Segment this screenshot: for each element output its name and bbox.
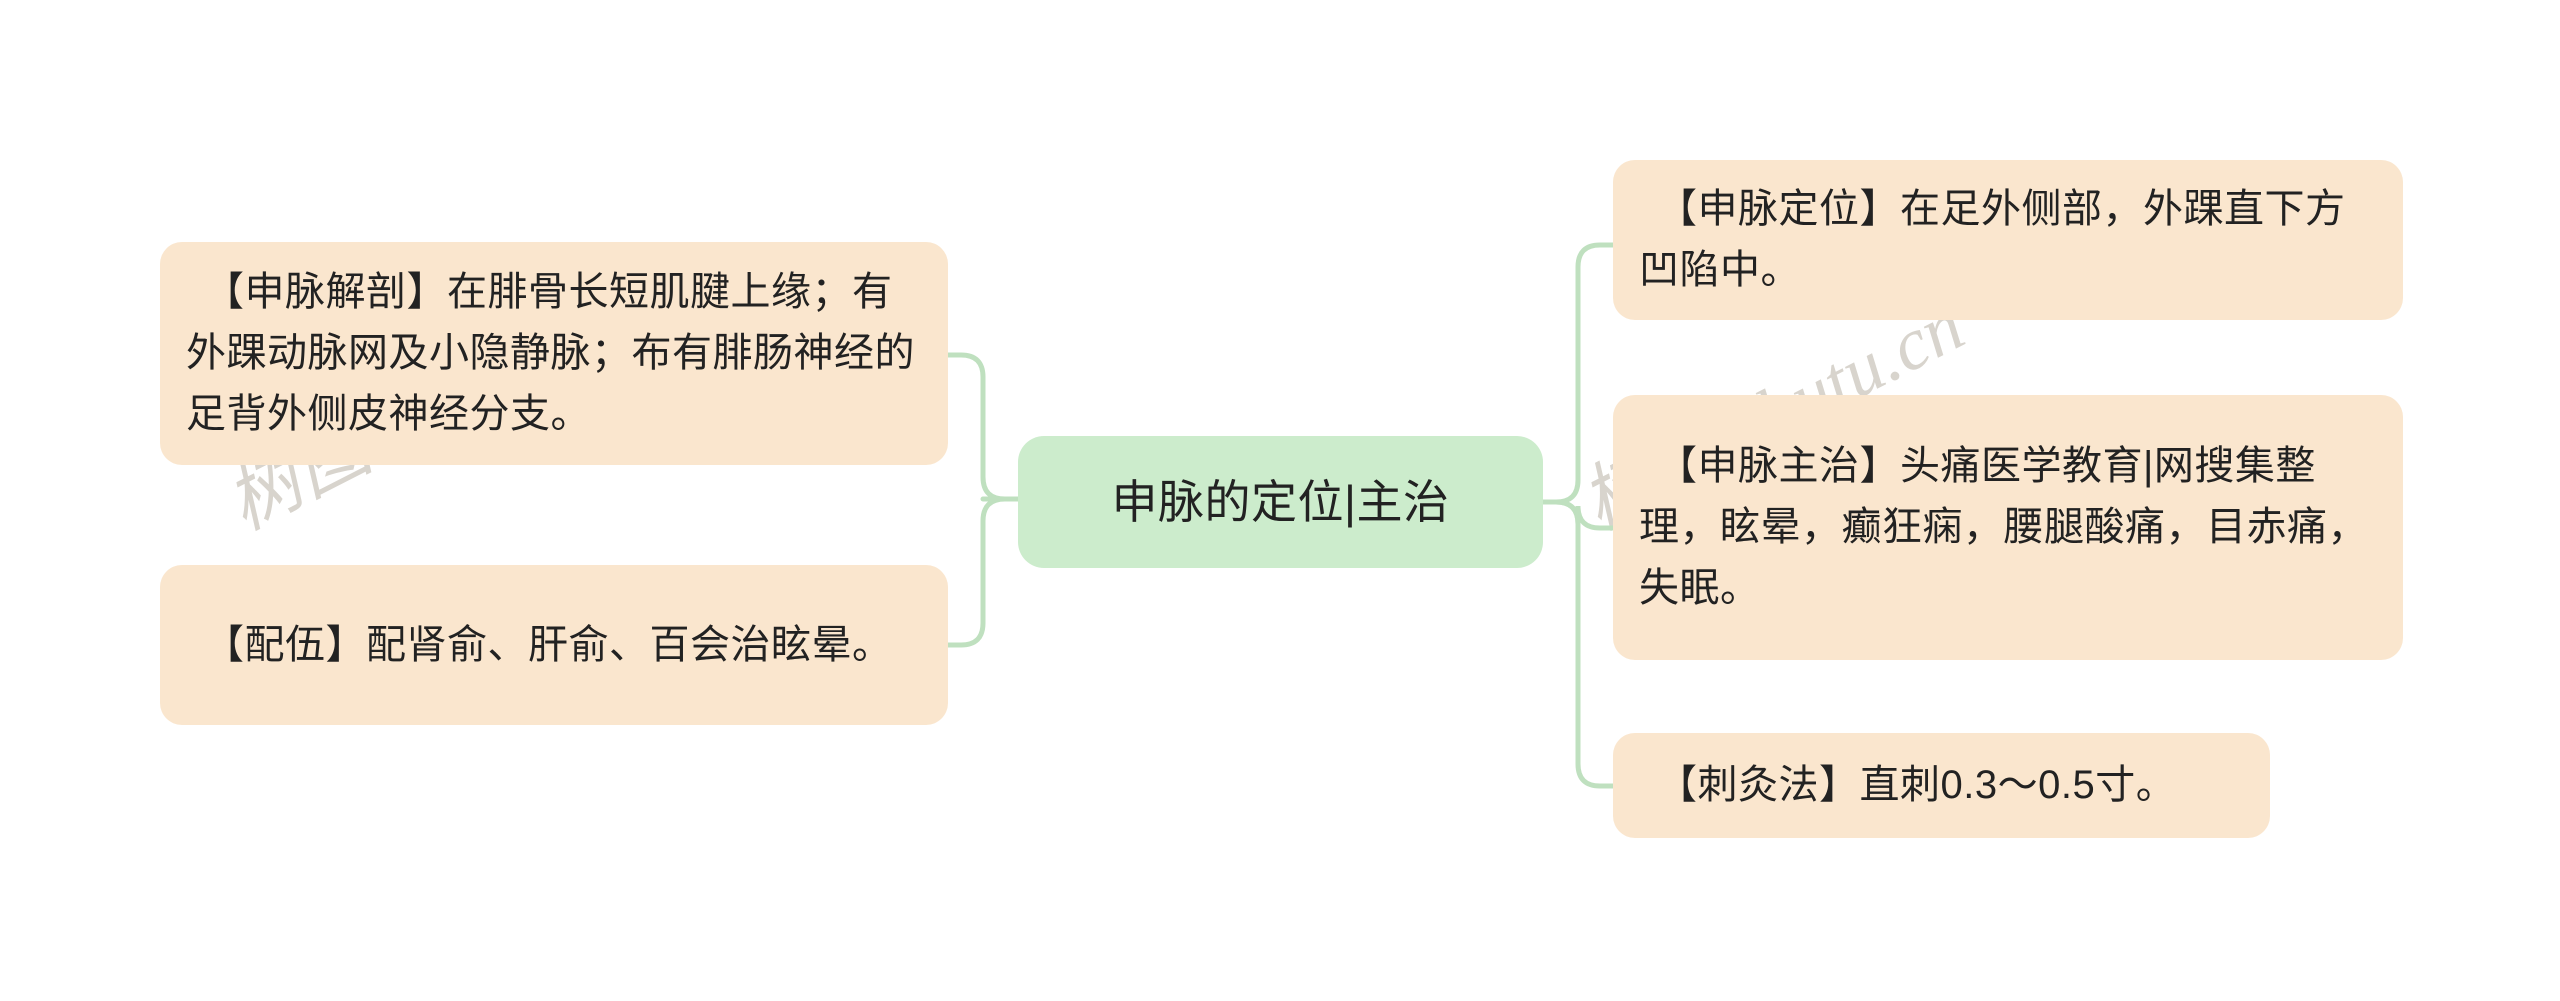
mindmap-canvas: 树图 shutu.cn 树图 shutu.cn 【申脉解剖】在腓骨长短肌腱上缘；… [0,0,2560,1001]
node-root[interactable]: 申脉的定位|主治 [1018,436,1543,568]
node-location-label: 【申脉定位】在足外侧部，外踝直下方凹陷中。 [1639,179,2377,301]
connector-anatomy [948,355,1018,499]
node-location[interactable]: 【申脉定位】在足外侧部，外踝直下方凹陷中。 [1613,160,2403,320]
node-root-label: 申脉的定位|主治 [1018,472,1543,532]
node-anatomy-label: 【申脉解剖】在腓骨长短肌腱上缘；有外踝动脉网及小隐静脉；布有腓肠神经的足背外侧皮… [186,262,922,445]
node-pairing-label: 【配伍】配肾俞、肝俞、百会治眩晕。 [186,615,922,676]
connector-pairing [948,499,1018,645]
node-anatomy[interactable]: 【申脉解剖】在腓骨长短肌腱上缘；有外踝动脉网及小隐静脉；布有腓肠神经的足背外侧皮… [160,242,948,465]
node-needling[interactable]: 【刺灸法】直刺0.3～0.5寸。 [1613,733,2270,838]
connector-location [1543,245,1613,502]
node-needling-label: 【刺灸法】直刺0.3～0.5寸。 [1639,755,2244,816]
node-indication[interactable]: 【申脉主治】头痛医学教育|网搜集整理，眩晕，癫狂痫，腰腿酸痛，目赤痛，失眠。 [1613,395,2403,660]
node-indication-label: 【申脉主治】头痛医学教育|网搜集整理，眩晕，癫狂痫，腰腿酸痛，目赤痛，失眠。 [1639,436,2377,619]
connector-needling [1543,502,1613,786]
node-pairing[interactable]: 【配伍】配肾俞、肝俞、百会治眩晕。 [160,565,948,725]
